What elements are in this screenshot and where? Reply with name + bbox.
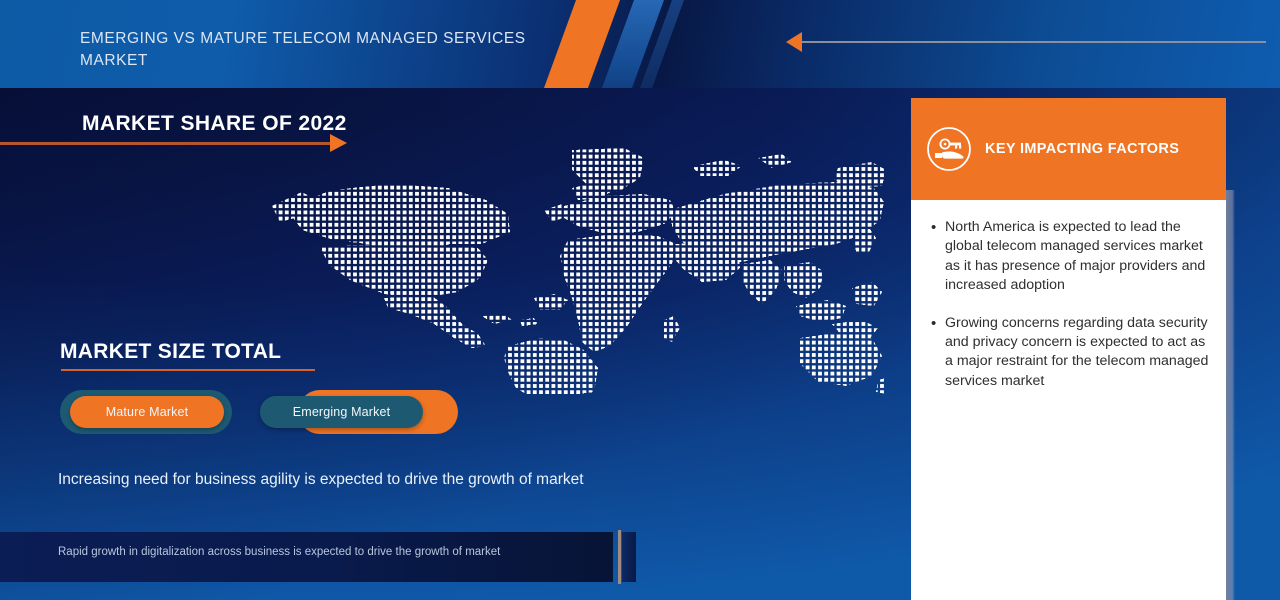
lead-paragraph: Increasing need for business agility is … <box>58 468 618 491</box>
bottom-band-secondary <box>622 532 636 582</box>
legend-group: Mature Market Emerging Market <box>60 390 480 442</box>
market-share-title: MARKET SHARE OF 2022 <box>82 112 347 136</box>
key-factors-panel: KEY IMPACTING FACTORS • North America is… <box>911 98 1226 600</box>
legend-mature-label[interactable]: Mature Market <box>70 396 224 428</box>
header-arrow <box>786 30 1266 54</box>
bottom-paragraph: Rapid growth in digitalization across bu… <box>58 544 578 560</box>
header-band: EMERGING VS MATURE TELECOM MANAGED SERVI… <box>0 0 1280 88</box>
header-title: EMERGING VS MATURE TELECOM MANAGED SERVI… <box>80 28 580 72</box>
slide-canvas: EMERGING VS MATURE TELECOM MANAGED SERVI… <box>0 0 1280 600</box>
header-arrow-line <box>801 41 1266 43</box>
list-item: • North America is expected to lead the … <box>931 218 1210 296</box>
bullet-text: Growing concerns regarding data security… <box>945 314 1210 392</box>
hand-holding-key-icon <box>925 125 973 173</box>
key-factors-title: KEY IMPACTING FACTORS <box>985 141 1179 157</box>
key-factors-bullet-list: • North America is expected to lead the … <box>911 200 1226 409</box>
bullet-marker-icon: • <box>931 314 945 392</box>
legend-emerging-label[interactable]: Emerging Market <box>260 396 423 428</box>
list-item: • Growing concerns regarding data securi… <box>931 314 1210 392</box>
bullet-marker-icon: • <box>931 218 945 296</box>
bottom-band-divider <box>618 530 621 584</box>
panel-drop-shadow <box>1226 190 1235 600</box>
dotted-world-map <box>272 148 886 394</box>
legend-item-emerging[interactable]: Emerging Market <box>260 390 480 442</box>
market-size-underline <box>61 369 315 371</box>
bullet-text: North America is expected to lead the gl… <box>945 218 1210 296</box>
market-size-title: MARKET SIZE TOTAL <box>60 340 281 364</box>
key-factors-header: KEY IMPACTING FACTORS <box>911 98 1226 200</box>
market-share-arrow-line <box>0 142 332 145</box>
legend-item-mature[interactable]: Mature Market <box>60 390 250 442</box>
arrow-left-icon <box>786 32 802 52</box>
